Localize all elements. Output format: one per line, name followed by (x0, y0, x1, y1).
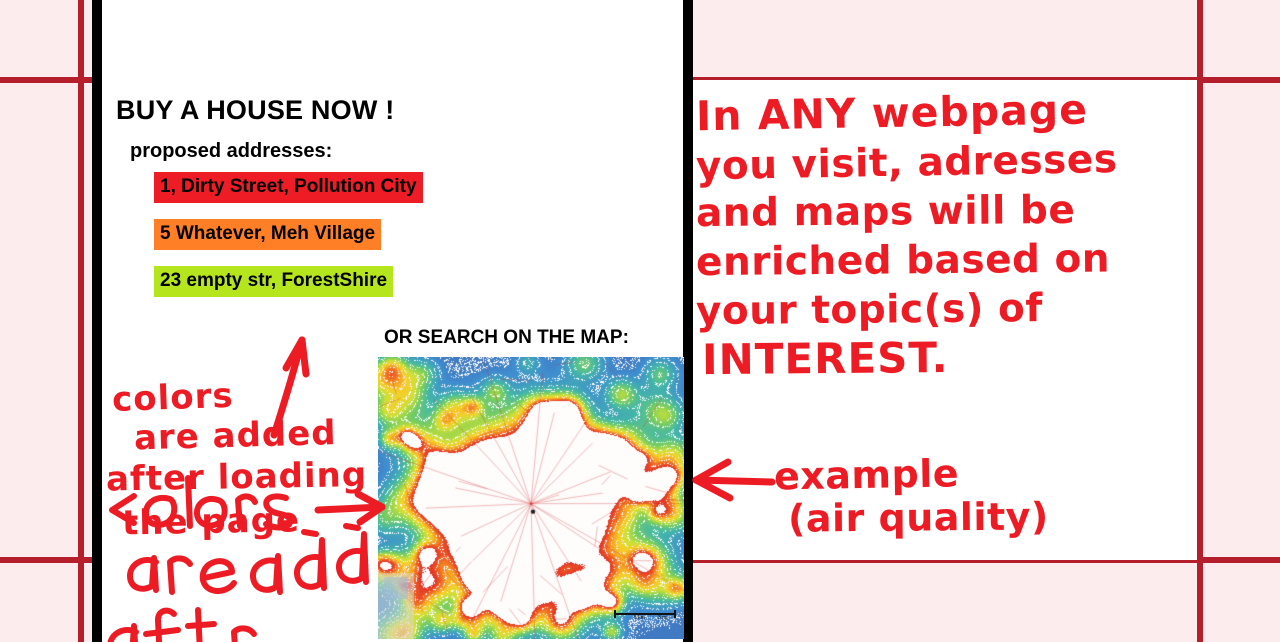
page-frame-rule-left (92, 0, 102, 642)
proposed-addresses-label: proposed addresses: (130, 140, 676, 162)
map-block: OR SEARCH ON THE MAP: 5 km 3 mi (378, 328, 684, 639)
page-frame-rule-right (683, 0, 693, 642)
grid-line-vertical-left (78, 0, 84, 642)
air-quality-heatmap-map[interactable]: 5 km 3 mi (378, 357, 684, 639)
heatmap-canvas[interactable] (378, 357, 684, 639)
address-row: 5 Whatever, Meh Village (154, 219, 676, 250)
grid-line-vertical-right (1197, 0, 1203, 642)
screenshot-root: BUY A HOUSE NOW ! proposed addresses: 1,… (0, 0, 1280, 642)
address-item-2[interactable]: 5 Whatever, Meh Village (154, 219, 381, 250)
address-item-1[interactable]: 1, Dirty Street, Pollution City (154, 172, 423, 203)
annotation-note-panel (693, 80, 1197, 560)
map-section-title: OR SEARCH ON THE MAP: (384, 328, 684, 349)
page-headline: BUY A HOUSE NOW ! (116, 96, 676, 126)
address-row: 23 empty str, ForestShire (154, 266, 676, 297)
address-row: 1, Dirty Street, Pollution City (154, 172, 676, 203)
webpage-content: BUY A HOUSE NOW ! proposed addresses: 1,… (116, 96, 676, 313)
address-item-3[interactable]: 23 empty str, ForestShire (154, 266, 393, 297)
